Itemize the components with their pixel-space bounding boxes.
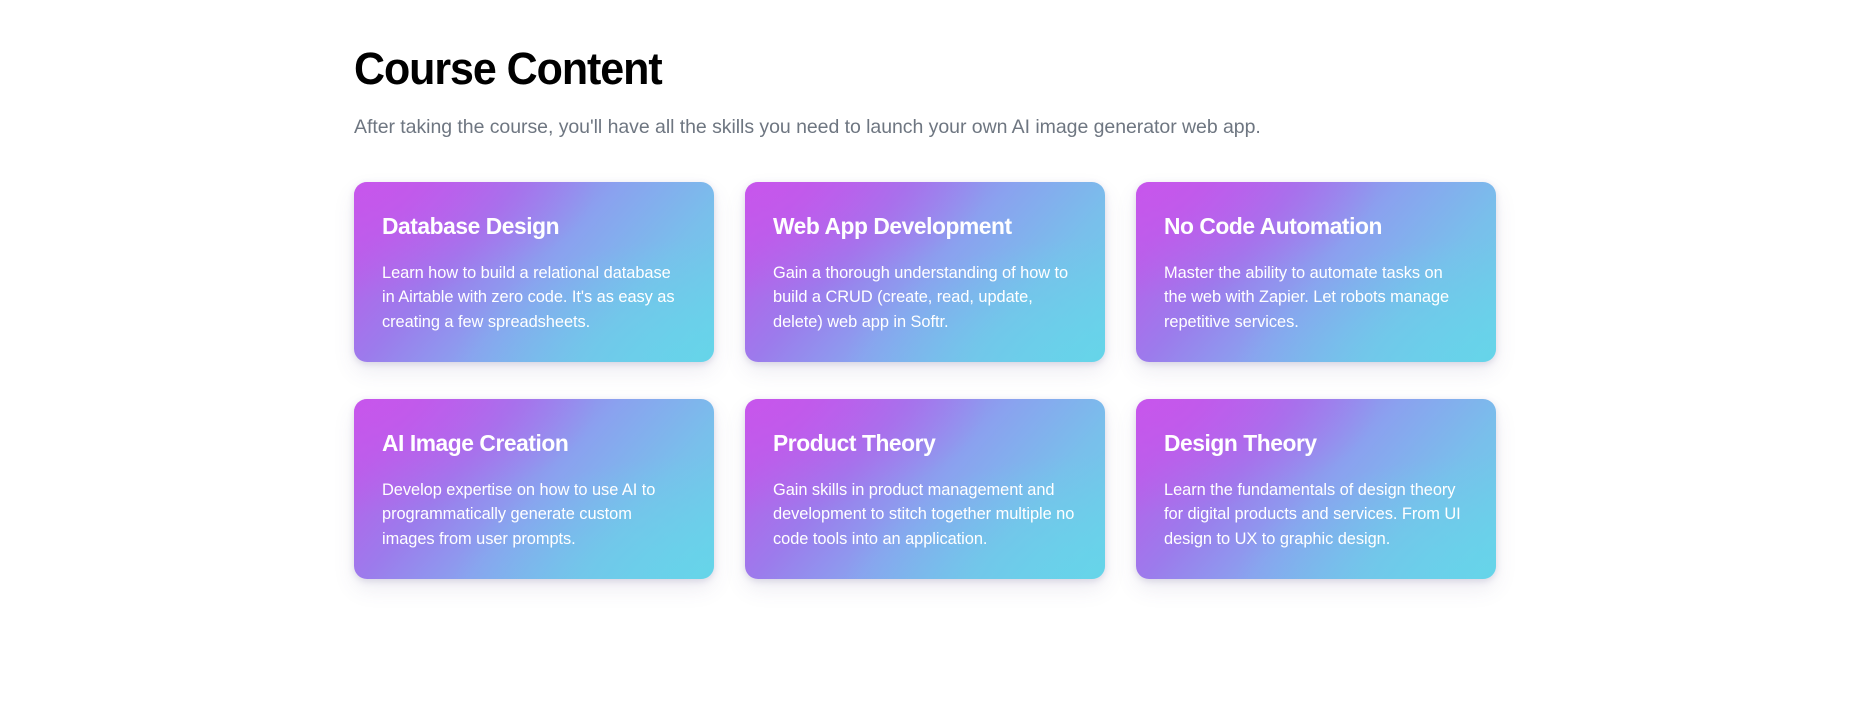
course-card-title: Database Design xyxy=(382,212,677,240)
course-card-title: Design Theory xyxy=(1164,429,1459,457)
course-card[interactable]: Database Design Learn how to build a rel… xyxy=(354,182,714,362)
course-card[interactable]: Web App Development Gain a thorough unde… xyxy=(745,182,1105,362)
course-card-title: AI Image Creation xyxy=(382,429,677,457)
course-card-body: Design Theory Learn the fundamentals of … xyxy=(1164,429,1468,552)
course-card[interactable]: No Code Automation Master the ability to… xyxy=(1136,182,1496,362)
course-card[interactable]: Product Theory Gain skills in product ma… xyxy=(745,399,1105,579)
course-card-description: Gain a thorough understanding of how to … xyxy=(773,240,1077,335)
course-card-description: Master the ability to automate tasks on … xyxy=(1164,240,1468,335)
course-card-description: Develop expertise on how to use AI to pr… xyxy=(382,457,686,552)
course-card-grid: Database Design Learn how to build a rel… xyxy=(354,182,1494,579)
course-card[interactable]: AI Image Creation Develop expertise on h… xyxy=(354,399,714,579)
course-card-title: No Code Automation xyxy=(1164,212,1459,240)
course-card-body: No Code Automation Master the ability to… xyxy=(1164,212,1468,335)
course-card[interactable]: Design Theory Learn the fundamentals of … xyxy=(1136,399,1496,579)
course-card-title: Web App Development xyxy=(773,212,1068,240)
content-container: Course Content After taking the course, … xyxy=(354,0,1494,579)
course-card-description: Learn how to build a relational database… xyxy=(382,240,686,335)
course-content-page: Course Content After taking the course, … xyxy=(0,0,1876,714)
course-card-body: Database Design Learn how to build a rel… xyxy=(382,212,686,335)
page-subtitle: After taking the course, you'll have all… xyxy=(354,94,1494,141)
page-title: Course Content xyxy=(354,0,1443,94)
course-card-title: Product Theory xyxy=(773,429,1068,457)
course-card-description: Learn the fundamentals of design theory … xyxy=(1164,457,1468,552)
course-card-body: Web App Development Gain a thorough unde… xyxy=(773,212,1077,335)
course-card-description: Gain skills in product management and de… xyxy=(773,457,1077,552)
course-card-body: AI Image Creation Develop expertise on h… xyxy=(382,429,686,552)
course-card-body: Product Theory Gain skills in product ma… xyxy=(773,429,1077,552)
